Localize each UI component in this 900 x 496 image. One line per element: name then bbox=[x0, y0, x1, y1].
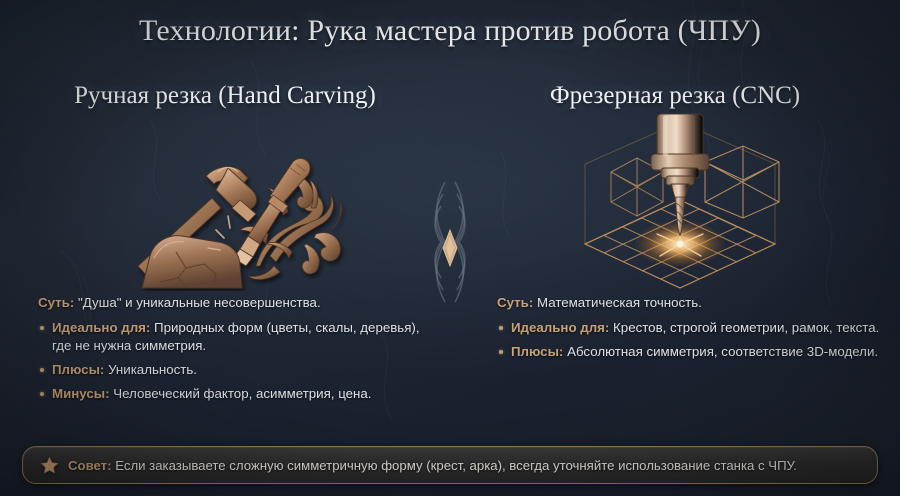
list-item: Плюсы: Абсолютная симметрия, соответстви… bbox=[497, 343, 892, 361]
cnc-text-block: Суть: Математическая точность. Идеально … bbox=[497, 294, 892, 367]
cnc-illustration bbox=[565, 104, 795, 294]
bullet-dot-icon bbox=[499, 326, 503, 330]
bullet-dot-icon bbox=[40, 326, 44, 330]
lead-text: "Душа" и уникальные несовершенства. bbox=[78, 295, 321, 310]
point-label: Идеально для: bbox=[511, 320, 609, 335]
point-label: Идеально для: bbox=[52, 320, 150, 335]
list-item: Идеально для: Природных форм (цветы, ска… bbox=[38, 319, 438, 355]
hand-carving-illustration bbox=[120, 116, 370, 291]
lead-line: Суть: "Душа" и уникальные несовершенства… bbox=[38, 294, 438, 312]
tip-label: Совет: bbox=[68, 458, 112, 473]
list-item: Идеально для: Крестов, строгой геометрии… bbox=[497, 319, 892, 337]
star-icon bbox=[40, 456, 59, 475]
wireframe-right bbox=[705, 146, 779, 218]
lead-line: Суть: Математическая точность. bbox=[497, 294, 892, 312]
point-label: Плюсы: bbox=[52, 362, 104, 377]
tip-banner: Совет: Если заказываете сложную симметри… bbox=[22, 446, 878, 484]
point-text: Крестов, строгой геометрии, рамок, текст… bbox=[613, 320, 879, 335]
list-item: Минусы: Человеческий фактор, асимметрия,… bbox=[38, 385, 438, 403]
lead-label: Суть: bbox=[497, 295, 533, 310]
page-title: Технологии: Рука мастера против робота (… bbox=[0, 14, 900, 48]
point-label: Минусы: bbox=[52, 386, 110, 401]
lead-label: Суть: bbox=[38, 295, 74, 310]
lead-text: Математическая точность. bbox=[537, 295, 702, 310]
list-item: Плюсы: Уникальность. bbox=[38, 361, 438, 379]
point-label: Плюсы: bbox=[511, 344, 563, 359]
hand-carving-text-block: Суть: "Душа" и уникальные несовершенства… bbox=[38, 294, 438, 409]
bullet-dot-icon bbox=[499, 350, 503, 354]
bullet-dot-icon bbox=[40, 368, 44, 372]
bullet-dot-icon bbox=[40, 392, 44, 396]
point-text: Абсолютная симметрия, соответствие 3D-мо… bbox=[567, 344, 878, 359]
column-heading-hand-carving: Ручная резка (Hand Carving) bbox=[0, 82, 450, 110]
point-text: Человеческий фактор, асимметрия, цена. bbox=[113, 386, 371, 401]
cnc-points: Идеально для: Крестов, строгой геометрии… bbox=[497, 319, 892, 361]
tip-text-line: Совет: Если заказываете сложную симметри… bbox=[68, 458, 797, 473]
infographic-canvas: Технологии: Рука мастера против робота (… bbox=[0, 0, 900, 496]
hand-carving-points: Идеально для: Природных форм (цветы, ска… bbox=[38, 319, 438, 403]
point-text: Уникальность. bbox=[108, 362, 197, 377]
tip-text: Если заказываете сложную симметричную фо… bbox=[115, 458, 797, 473]
